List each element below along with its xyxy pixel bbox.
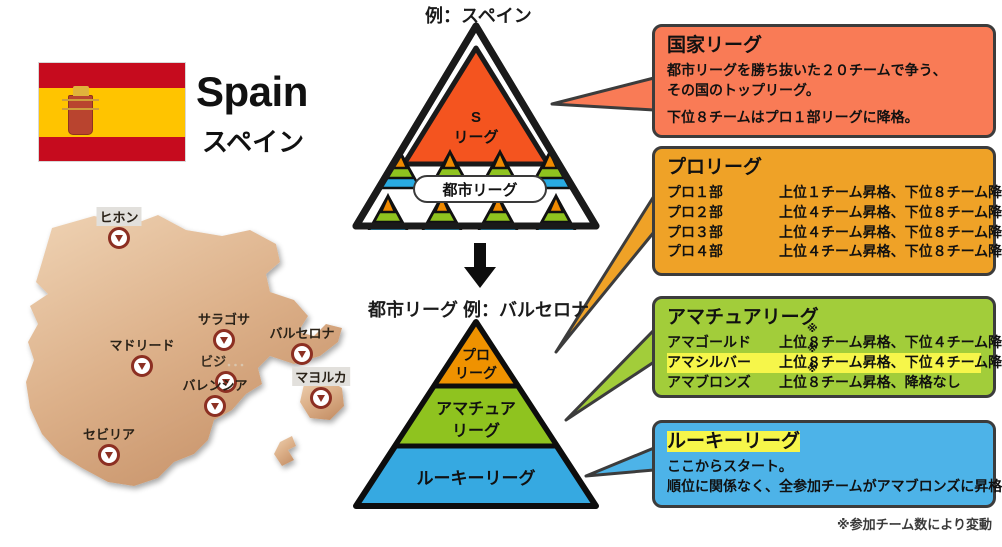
spain-map: ヒホン サラゴサ マドリード バルセロナ ビジ．．． バレンシア マヨルカ セ <box>8 196 354 506</box>
map-pin-icon <box>98 444 120 466</box>
row-key: プロ４部 <box>667 242 779 262</box>
amateur-level-label-2: リーグ <box>452 421 500 440</box>
callout-row: プロ１部 上位１チーム昇格、下位８チーム降格 <box>667 183 981 203</box>
callout-row: アマゴールド ※上位８チーム昇格、下位４チーム降格 <box>667 333 981 353</box>
callout-row: アマブロンズ ※上位８チーム昇格、降格なし <box>667 373 981 393</box>
city-label: セビリア <box>83 424 135 443</box>
map-pin-icon <box>291 343 313 365</box>
row-value: 上位１チーム昇格、下位８チーム降格 <box>779 183 1002 203</box>
s-league-label-2: リーグ <box>453 128 498 146</box>
callout-line: ここからスタート。 <box>667 457 981 477</box>
map-pin-icon <box>213 329 235 351</box>
city-label: バルセロナ <box>269 323 334 342</box>
down-arrow-icon <box>462 243 498 289</box>
pro-level-label-2: リーグ <box>455 365 497 381</box>
city-label: マドリード <box>109 335 174 354</box>
row-key: アマゴールド <box>667 333 779 353</box>
callout-title: ルーキーリーグ <box>667 430 981 454</box>
row-key: プロ２部 <box>667 203 779 223</box>
callout-amateur-league: アマチュアリーグ アマゴールド ※上位８チーム昇格、下位４チーム降格 アマシルバ… <box>652 296 996 398</box>
footnote-marker: ※ <box>807 344 818 355</box>
footnote-marker: ※ <box>807 364 818 375</box>
callout-title: 国家リーグ <box>667 34 981 58</box>
flag-crest-icon <box>68 95 93 134</box>
row-key: プロ３部 <box>667 223 779 243</box>
callout-line: 都市リーグを勝ち抜いた２０チームで争う、 <box>667 61 981 81</box>
pro-level-label-1: プロ <box>462 347 490 363</box>
callout-line: 下位８チームはプロ１部リーグに降格。 <box>667 108 981 128</box>
callout-title: プロリーグ <box>667 156 981 180</box>
country-name-ja: スペイン <box>202 122 304 159</box>
callout-row-highlighted: アマシルバー ※上位８チーム昇格、下位４チーム降格 <box>667 353 981 373</box>
row-key: アマブロンズ <box>667 373 779 393</box>
map-pin-icon <box>108 227 130 249</box>
country-name-en: Spain <box>196 68 308 116</box>
row-value: ※上位８チーム昇格、降格なし <box>779 373 961 393</box>
callout-rookie-league: ルーキーリーグ ここからスタート。 順位に関係なく、全参加チームがアマブロンズに… <box>652 420 996 508</box>
callout-pro-league: プロリーグ プロ１部 上位１チーム昇格、下位８チーム降格 プロ２部 上位４チーム… <box>652 146 996 276</box>
city-label: マヨルカ <box>292 367 350 386</box>
callout-row: プロ３部 上位４チーム昇格、下位８チーム降格 <box>667 223 981 243</box>
amateur-level-label-1: アマチュア <box>436 401 516 418</box>
diagram-canvas: Spain スペイン ヒホン <box>0 0 1002 547</box>
callout-line: 順位に関係なく、全参加チームがアマブロンズに昇格。 <box>667 477 981 497</box>
spain-flag-icon <box>38 62 186 162</box>
callout-national-league: 国家リーグ 都市リーグを勝ち抜いた２０チームで争う、 その国のトップリーグ。 下… <box>652 24 996 138</box>
row-value: 上位４チーム昇格、下位８チーム降格 <box>779 223 1002 243</box>
s-league-label-1: S <box>471 109 481 126</box>
row-value: 上位４チーム昇格、下位８チーム降格 <box>779 242 1002 262</box>
city-label: ヒホン <box>96 207 141 226</box>
city-league-pill: 都市リーグ <box>413 175 547 203</box>
callout-row: プロ２部 上位４チーム昇格、下位８チーム降格 <box>667 203 981 223</box>
city-label: バレンシア <box>182 375 247 394</box>
flag-yellow-band <box>39 88 185 137</box>
row-key: アマシルバー <box>667 353 779 373</box>
map-pin-icon <box>204 395 226 417</box>
rookie-level-label: ルーキーリーグ <box>417 468 536 488</box>
footnote-text: ※参加チーム数により変動 <box>837 514 992 533</box>
row-key: プロ１部 <box>667 183 779 203</box>
map-pin-icon <box>131 355 153 377</box>
map-pin-icon <box>310 387 332 409</box>
callout-row: プロ４部 上位４チーム昇格、下位８チーム降格 <box>667 242 981 262</box>
city-league-pyramid: プロ リーグ アマチュア リーグ ルーキーリーグ <box>352 318 600 510</box>
callout-title: アマチュアリーグ <box>667 306 981 330</box>
callout-line: その国のトップリーグ。 <box>667 81 981 101</box>
row-value: 上位４チーム昇格、下位８チーム降格 <box>779 203 1002 223</box>
city-label: サラゴサ <box>198 309 250 328</box>
footnote-marker: ※ <box>807 324 818 335</box>
city-label: ビジ．．． <box>200 351 252 370</box>
